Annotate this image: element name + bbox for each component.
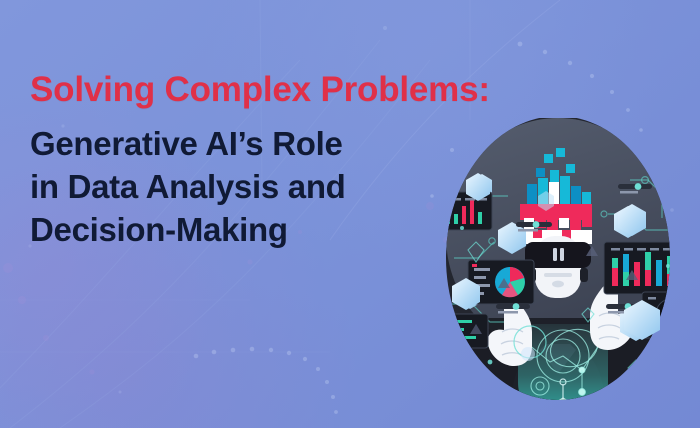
vr-data-analyst-illustration xyxy=(432,118,700,428)
equalizer-panel xyxy=(604,242,694,294)
vr-headset xyxy=(525,242,591,268)
illustration-contents xyxy=(432,118,700,428)
banner-root: Solving Complex Problems: Generative AI’… xyxy=(0,0,700,428)
headline-primary: Solving Complex Problems: xyxy=(30,72,570,107)
